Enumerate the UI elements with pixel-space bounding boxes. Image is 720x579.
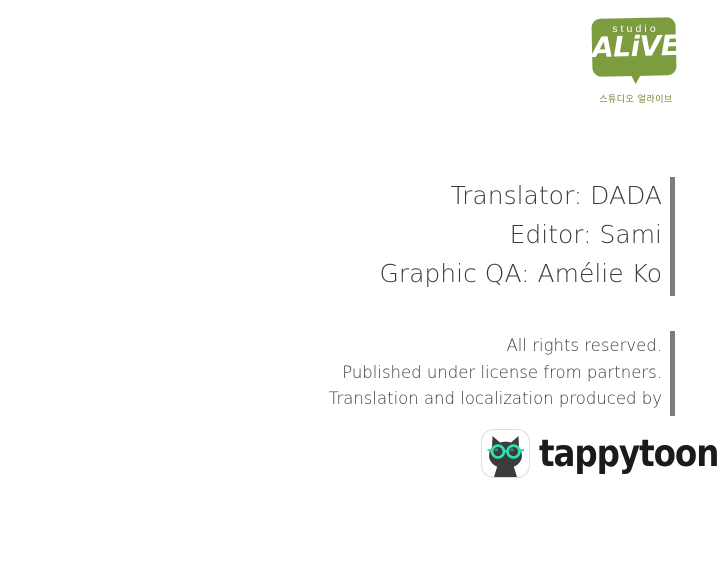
credit-line-graphic-qa: Graphic QA: Amélie Ko (242, 254, 662, 293)
rights-block: All rights reserved. Published under lic… (202, 333, 662, 413)
speech-bubble-tail (627, 66, 646, 84)
tappytoon-wordmark: tappytoon (539, 435, 718, 472)
rights-line-published: Published under license from partners. (202, 360, 662, 387)
speech-bubble-shape: studio ALiVE (592, 18, 676, 80)
credits-page: studio ALiVE 스튜디오 얼라이브 Translator: DADA … (0, 0, 720, 579)
credit-line-editor: Editor: Sami (242, 215, 662, 254)
credit-line-translator: Translator: DADA (242, 176, 662, 215)
credits-divider-bar (670, 177, 675, 296)
studio-alive-korean-subtitle: 스튜디오 얼라이브 (592, 92, 680, 105)
cat-with-glasses-icon (481, 429, 530, 478)
rights-line-all-rights: All rights reserved. (202, 333, 662, 360)
credits-block: Translator: DADA Editor: Sami Graphic QA… (242, 176, 662, 293)
studio-alive-logo: studio ALiVE 스튜디오 얼라이브 (592, 18, 680, 113)
tappytoon-logo: tappytoon (481, 428, 720, 478)
rights-divider-bar (670, 331, 675, 416)
alive-wordmark: ALiVE (592, 32, 677, 62)
rights-line-translation: Translation and localization produced by (202, 386, 662, 413)
